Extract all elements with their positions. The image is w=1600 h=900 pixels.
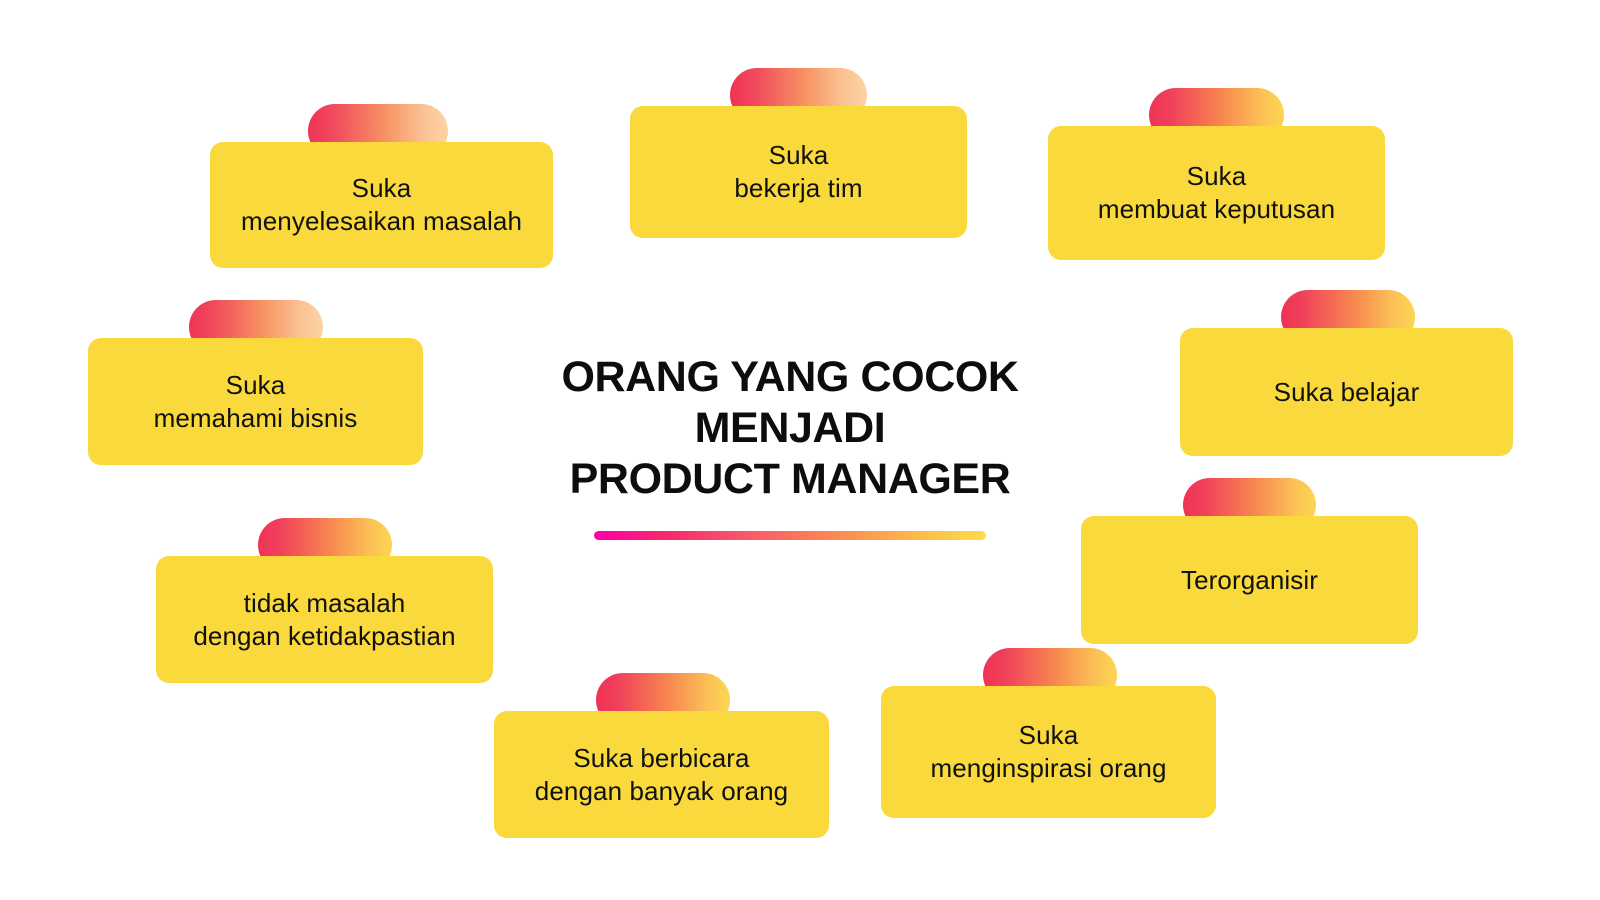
trait-card-suka-bekerja-tim[interactable]: Suka bekerja tim (630, 68, 967, 238)
card-body: Suka memahami bisnis (88, 338, 423, 465)
trait-card-suka-menginspirasi-orang[interactable]: Suka menginspirasi orang (881, 648, 1216, 818)
trait-card-suka-membuat-keputusan[interactable]: Suka membuat keputusan (1048, 88, 1385, 260)
card-body: Suka membuat keputusan (1048, 126, 1385, 260)
infographic-canvas: Suka menyelesaikan masalahSuka bekerja t… (0, 0, 1600, 900)
card-label: Suka menginspirasi orang (920, 719, 1176, 785)
trait-card-suka-belajar[interactable]: Suka belajar (1180, 290, 1513, 456)
card-label: Terorganisir (1171, 564, 1328, 597)
card-label: tidak masalah dengan ketidakpastian (183, 587, 465, 653)
card-label: Suka berbicara dengan banyak orang (525, 742, 798, 808)
card-body: tidak masalah dengan ketidakpastian (156, 556, 493, 683)
trait-card-suka-memahami-bisnis[interactable]: Suka memahami bisnis (88, 300, 423, 465)
card-body: Suka belajar (1180, 328, 1513, 456)
trait-card-suka-menyelesaikan-masalah[interactable]: Suka menyelesaikan masalah (210, 104, 553, 268)
card-label: Suka bekerja tim (724, 139, 872, 205)
trait-card-terorganisir[interactable]: Terorganisir (1081, 478, 1418, 644)
card-label: Suka menyelesaikan masalah (231, 172, 532, 238)
page-title: ORANG YANG COCOK MENJADI PRODUCT MANAGER (500, 352, 1080, 505)
center-title-block: ORANG YANG COCOK MENJADI PRODUCT MANAGER (500, 352, 1080, 540)
card-body: Suka menginspirasi orang (881, 686, 1216, 818)
card-label: Suka membuat keputusan (1088, 160, 1345, 226)
gradient-divider-icon (594, 531, 986, 540)
divider-wrapper (500, 531, 1080, 540)
card-label: Suka memahami bisnis (144, 369, 368, 435)
card-body: Suka berbicara dengan banyak orang (494, 711, 829, 838)
trait-card-tidak-masalah-ketidakpastian[interactable]: tidak masalah dengan ketidakpastian (156, 518, 493, 683)
trait-card-suka-berbicara-banyak-orang[interactable]: Suka berbicara dengan banyak orang (494, 673, 829, 838)
card-body: Suka menyelesaikan masalah (210, 142, 553, 268)
card-body: Suka bekerja tim (630, 106, 967, 238)
card-body: Terorganisir (1081, 516, 1418, 644)
card-label: Suka belajar (1264, 376, 1430, 409)
